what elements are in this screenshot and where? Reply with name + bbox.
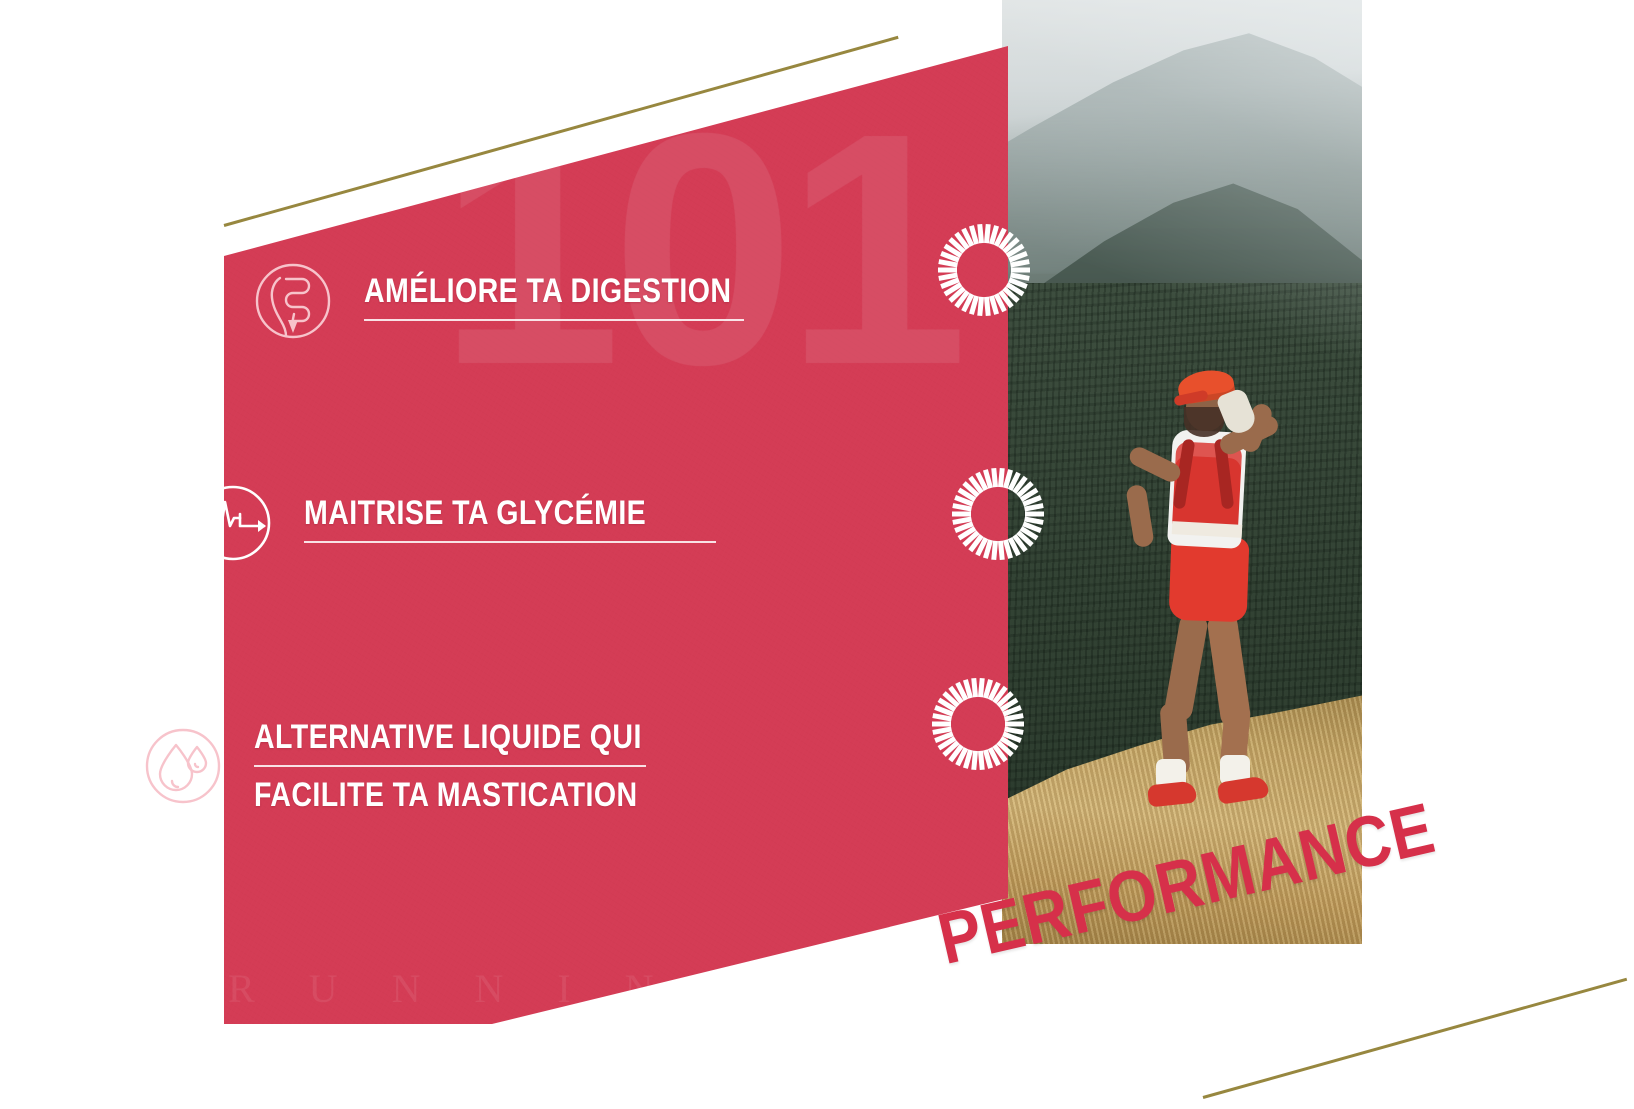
trail-runner-photo	[1002, 0, 1362, 944]
burst-ring-icon	[950, 466, 1046, 562]
feature-line: FACILITE TA MASTICATION	[254, 776, 642, 814]
feature-labels: ALTERNATIVE LIQUIDE QUI FACILITE TA MAST…	[254, 718, 716, 814]
burst-ring-icon	[930, 676, 1026, 772]
water-drop-icon	[140, 723, 226, 809]
feature-line: AMÉLIORE TA DIGESTION	[364, 272, 731, 310]
intestine-icon	[250, 258, 336, 344]
feature-labels: MAITRISE TA GLYCÉMIE	[304, 494, 716, 552]
heartbeat-icon	[190, 480, 276, 566]
feature-row-glycemie: MAITRISE TA GLYCÉMIE	[190, 480, 716, 566]
feature-underline	[254, 765, 646, 767]
feature-underline	[364, 319, 744, 321]
runner-figure	[1114, 355, 1294, 825]
burst-ring-icon	[936, 222, 1032, 318]
feature-row-digestion: AMÉLIORE TA DIGESTION	[250, 258, 801, 344]
feature-labels: AMÉLIORE TA DIGESTION	[364, 272, 801, 330]
watermark-wordmark: R U N N I N G T R A I L	[228, 965, 988, 1012]
feature-line: MAITRISE TA GLYCÉMIE	[304, 494, 650, 532]
poster-canvas: 101 R U N N I N G T R A I L AMÉLIORE TA …	[0, 0, 1634, 1109]
feature-row-mastication: ALTERNATIVE LIQUIDE QUI FACILITE TA MAST…	[140, 718, 716, 814]
feature-line: ALTERNATIVE LIQUIDE QUI	[254, 718, 642, 756]
watermark-logo: 101	[438, 120, 878, 760]
gold-diagonal-bottom	[1203, 978, 1628, 1099]
feature-underline	[304, 541, 716, 543]
